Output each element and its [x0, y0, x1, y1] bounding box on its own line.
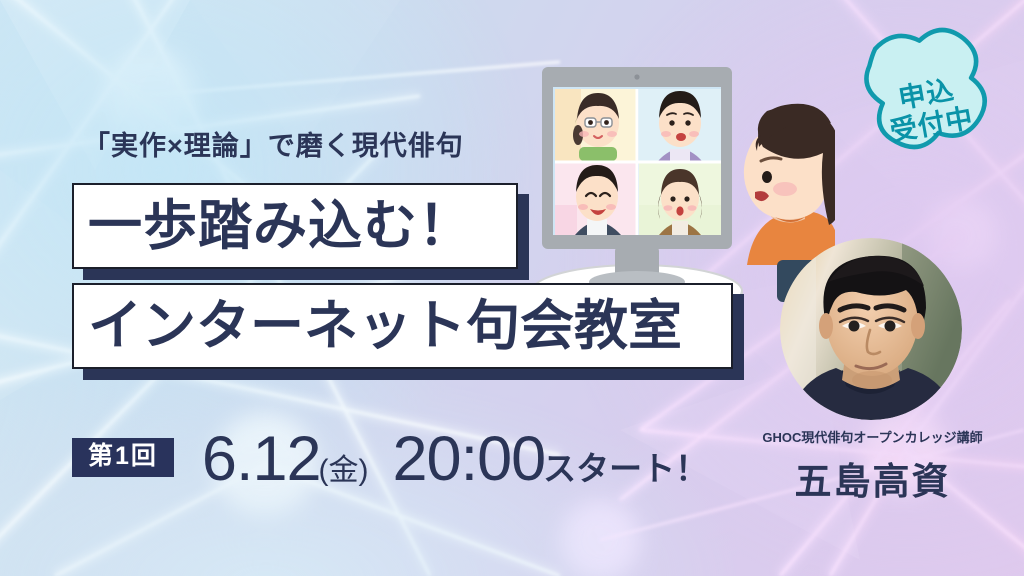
tagline: 「実作×理論」で磨く現代俳句: [83, 124, 464, 163]
title-box-line-2: インターネット句会教室: [72, 283, 733, 369]
portrait-photo: [780, 238, 962, 420]
event-date-number: 6.12: [202, 424, 321, 494]
title-line-2-text: インターネット句会教室: [88, 299, 682, 353]
event-day-of-week: (金): [319, 454, 369, 487]
poster-canvas: 「実作×理論」で磨く現代俳句 一歩踏み込む！ インターネット句会教室 第1回 6…: [0, 0, 1024, 576]
instructor-name: 五島高資: [760, 451, 985, 505]
instructor-info: GHOC現代俳句オープンカレッジ講師 五島高資: [760, 427, 985, 505]
event-time-suffix: スタート！: [543, 450, 708, 487]
episode-badge: 第1回: [72, 438, 174, 477]
application-open-badge: 申込 受付中: [829, 12, 1024, 205]
instructor-role: GHOC現代俳句オープンカレッジ講師: [760, 427, 985, 446]
title-line-1-text: 一歩踏み込む！: [88, 199, 473, 253]
title-box-line-1: 一歩踏み込む！: [72, 183, 518, 269]
schedule-row: 第1回 6.12(金) 20:00スタート！: [72, 428, 710, 491]
event-time-number: 20:00: [393, 424, 546, 494]
event-date: 6.12(金): [202, 428, 371, 491]
badge-text-group: 申込 受付中: [827, 11, 1024, 209]
instructor-portrait: [780, 238, 962, 420]
event-time: 20:00スタート！: [393, 428, 711, 491]
